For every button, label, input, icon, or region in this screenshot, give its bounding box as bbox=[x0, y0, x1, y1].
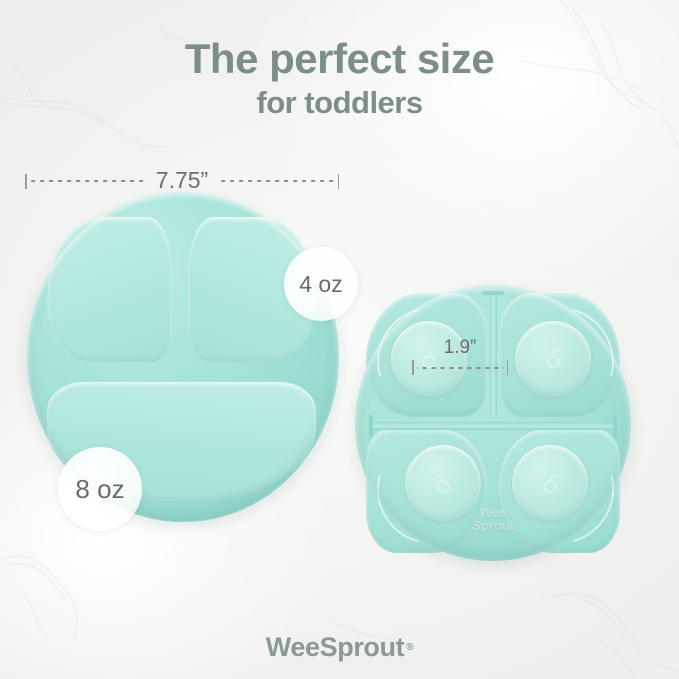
plate-width-label: 7.75” bbox=[147, 167, 217, 194]
suction-cup-dimension-line bbox=[412, 360, 508, 375]
dimension-end-cap-right bbox=[507, 360, 509, 375]
ridge-tick-right bbox=[613, 415, 617, 437]
dimension-end-cap-right bbox=[338, 174, 340, 189]
dimension-dotted-line-right bbox=[221, 180, 333, 182]
dimension-end-cap-left bbox=[25, 174, 27, 189]
suction-cup-width-label: 1.9” bbox=[412, 338, 508, 358]
capacity-badge-8oz-label: 8 oz bbox=[75, 474, 124, 505]
infographic-canvas: The perfect size for toddlers 7.75” bbox=[0, 0, 679, 679]
capacity-badge-4oz-label: 4 oz bbox=[299, 271, 342, 298]
suction-cup-bottom-left bbox=[405, 445, 481, 521]
ridge-channel-horizontal bbox=[372, 422, 615, 431]
suction-cup-mark-icon bbox=[537, 472, 563, 498]
suction-cup-mark-icon bbox=[430, 472, 456, 498]
plate-width-dimension: 7.75” bbox=[25, 168, 339, 194]
embossed-brand-mark: Wee Sprout bbox=[472, 506, 514, 532]
registered-trademark-symbol: ® bbox=[406, 642, 413, 653]
ridge-tick-left bbox=[369, 415, 373, 437]
suction-cup-bottom-right bbox=[512, 445, 588, 521]
brand-logo: WeeSprout ® bbox=[0, 632, 679, 663]
headline-line-1: The perfect size bbox=[0, 36, 679, 82]
dimension-dotted-line-left bbox=[31, 180, 143, 182]
suction-cup-dimension: 1.9” bbox=[412, 338, 508, 382]
dimension-end-cap-left bbox=[412, 360, 414, 375]
capacity-badge-8oz: 8 oz bbox=[58, 447, 142, 531]
brand-logo-text: WeeSprout ® bbox=[266, 632, 413, 663]
dimension-dotted-line bbox=[417, 367, 504, 369]
suction-cup-mark-icon bbox=[540, 347, 566, 373]
ridge-tick-top bbox=[482, 291, 504, 295]
suction-cup-top-right bbox=[515, 321, 591, 397]
plate-underside-view: Wee Sprout bbox=[355, 285, 631, 561]
compartment-upper-left bbox=[47, 217, 172, 362]
plate-underside-body: Wee Sprout bbox=[355, 285, 631, 561]
headline-line-2: for toddlers bbox=[0, 82, 679, 124]
brand-name: WeeSprout bbox=[266, 632, 404, 663]
embossed-brand-line-2: Sprout bbox=[472, 518, 514, 533]
headline: The perfect size for toddlers bbox=[0, 36, 679, 124]
capacity-badge-4oz: 4 oz bbox=[284, 247, 358, 321]
